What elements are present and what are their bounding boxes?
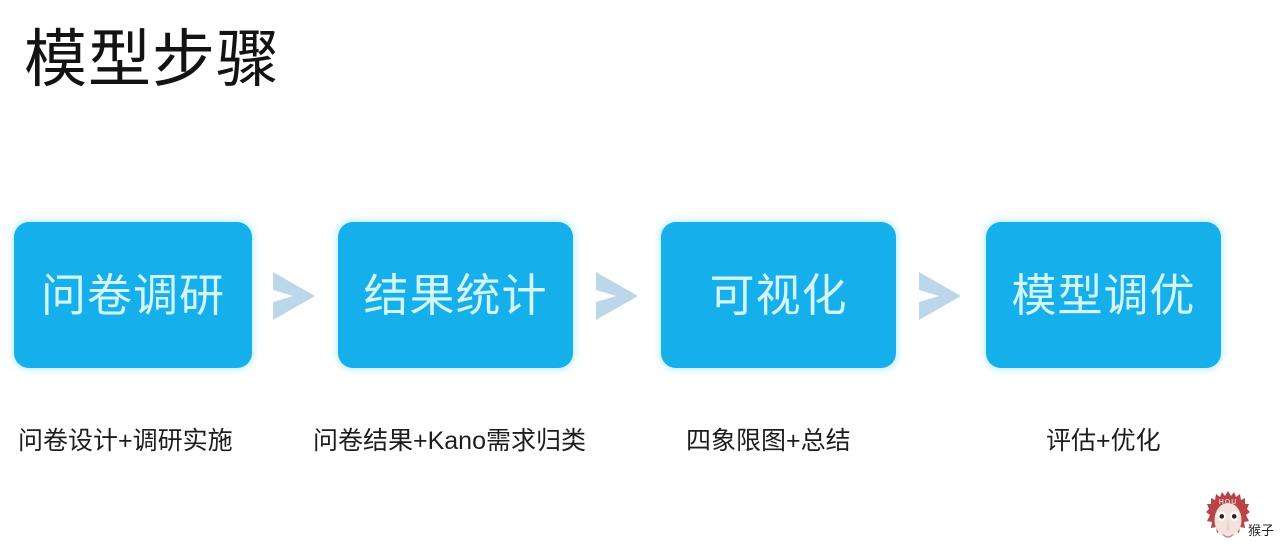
monkey-face-icon: HOU — [1203, 489, 1253, 545]
step-caption-4: 评估+优化 — [1046, 424, 1161, 458]
page-title: 模型步骤 — [24, 22, 280, 99]
step-label-2: 结果统计 — [363, 273, 547, 318]
chevron-right-icon — [594, 270, 640, 322]
chevron-right-icon — [917, 270, 963, 322]
step-caption-2: 问卷结果+Kano需求归类 — [313, 424, 586, 458]
step-label-4: 模型调优 — [1011, 273, 1195, 318]
watermark-label: 猴子 — [1248, 523, 1274, 538]
process-flow: 问卷调研 结果统计 可视化 模型调优 — [0, 222, 1280, 368]
step-box-4[interactable]: 模型调优 — [986, 222, 1221, 368]
step-box-3[interactable]: 可视化 — [661, 222, 896, 368]
step-box-2[interactable]: 结果统计 — [338, 222, 573, 368]
chevron-right-icon — [271, 270, 317, 322]
caption-row: 问卷设计+调研实施 问卷结果+Kano需求归类 四象限图+总结 评估+优化 — [0, 424, 1280, 464]
watermark: HOU 猴子 — [1203, 489, 1277, 551]
slide-canvas: 模型步骤 问卷调研 结果统计 可视化 模型调优 — [0, 0, 1280, 560]
step-label-1: 问卷调研 — [41, 273, 225, 318]
step-caption-3: 四象限图+总结 — [686, 424, 851, 458]
step-label-3: 可视化 — [709, 273, 847, 318]
step-box-1[interactable]: 问卷调研 — [14, 222, 252, 368]
svg-text:HOU: HOU — [1219, 499, 1238, 506]
step-caption-1: 问卷设计+调研实施 — [18, 424, 233, 458]
